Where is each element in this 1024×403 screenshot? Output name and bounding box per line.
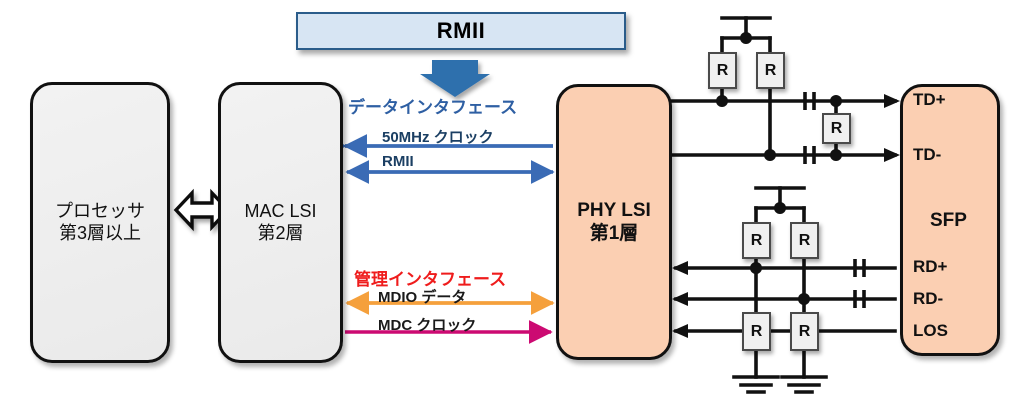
resistor-label: R — [799, 232, 811, 250]
sfp-pin-rd-plus: RD+ — [913, 257, 947, 277]
sfp-pin-td-plus: TD+ — [913, 90, 946, 110]
block-processor-line1: プロセッサ — [55, 201, 145, 223]
resistor-label: R — [751, 323, 763, 341]
diagram-canvas: RMII プロセッサ 第3層以上 MAC LSI 第2層 PHY LSI 第1層… — [0, 0, 1024, 403]
block-phy-lsi-line2: 第1層 — [577, 222, 651, 245]
rmii-down-arrow — [420, 60, 490, 97]
resistor-rd-pullup-1: R — [742, 222, 771, 259]
block-phy-lsi[interactable]: PHY LSI 第1層 — [556, 84, 672, 360]
resistor-td-terminator: R — [822, 113, 851, 144]
resistor-label: R — [751, 232, 763, 250]
block-mac-lsi-line2: 第2層 — [244, 223, 316, 245]
sfp-pin-td-minus: TD- — [913, 145, 941, 165]
block-phy-lsi-label: PHY LSI 第1層 — [577, 199, 651, 245]
block-mac-lsi-label: MAC LSI 第2層 — [244, 201, 316, 245]
block-phy-lsi-line1: PHY LSI — [577, 199, 651, 222]
block-processor-line2: 第3層以上 — [55, 223, 145, 245]
rmii-header-label: RMII — [437, 18, 485, 44]
rmii-header-box: RMII — [296, 12, 626, 50]
block-mac-lsi-line1: MAC LSI — [244, 201, 316, 223]
data-interface-heading: データインタフェース — [348, 93, 517, 118]
block-processor-label: プロセッサ 第3層以上 — [55, 201, 145, 245]
td-input-arrowheads — [884, 94, 900, 162]
block-sfp-label: SFP — [930, 210, 967, 232]
resistor-rd-pullup-2: R — [790, 222, 819, 259]
resistor-rd-pulldown-2: R — [790, 312, 819, 351]
block-processor[interactable]: プロセッサ 第3層以上 — [30, 82, 170, 363]
signal-label-rmii: RMII — [382, 153, 414, 170]
resistor-td-pullup-1: R — [708, 52, 737, 89]
resistor-label: R — [717, 62, 729, 80]
resistor-td-pullup-2: R — [756, 52, 785, 89]
resistor-label: R — [831, 120, 843, 138]
resistor-label: R — [765, 62, 777, 80]
block-mac-lsi[interactable]: MAC LSI 第2層 — [218, 82, 343, 363]
resistor-rd-pulldown-1: R — [742, 312, 771, 351]
sfp-pin-los: LOS — [913, 321, 948, 341]
resistor-label: R — [799, 323, 811, 341]
rd-input-arrowheads — [672, 261, 688, 338]
signal-label-mdio-data: MDIO データ — [378, 286, 466, 307]
rd-circuit — [676, 188, 895, 392]
signal-label-mdc-clock: MDC クロック — [378, 314, 476, 335]
sfp-pin-rd-minus: RD- — [913, 289, 943, 309]
signal-label-50mhz-clock: 50MHz クロック — [382, 126, 494, 147]
